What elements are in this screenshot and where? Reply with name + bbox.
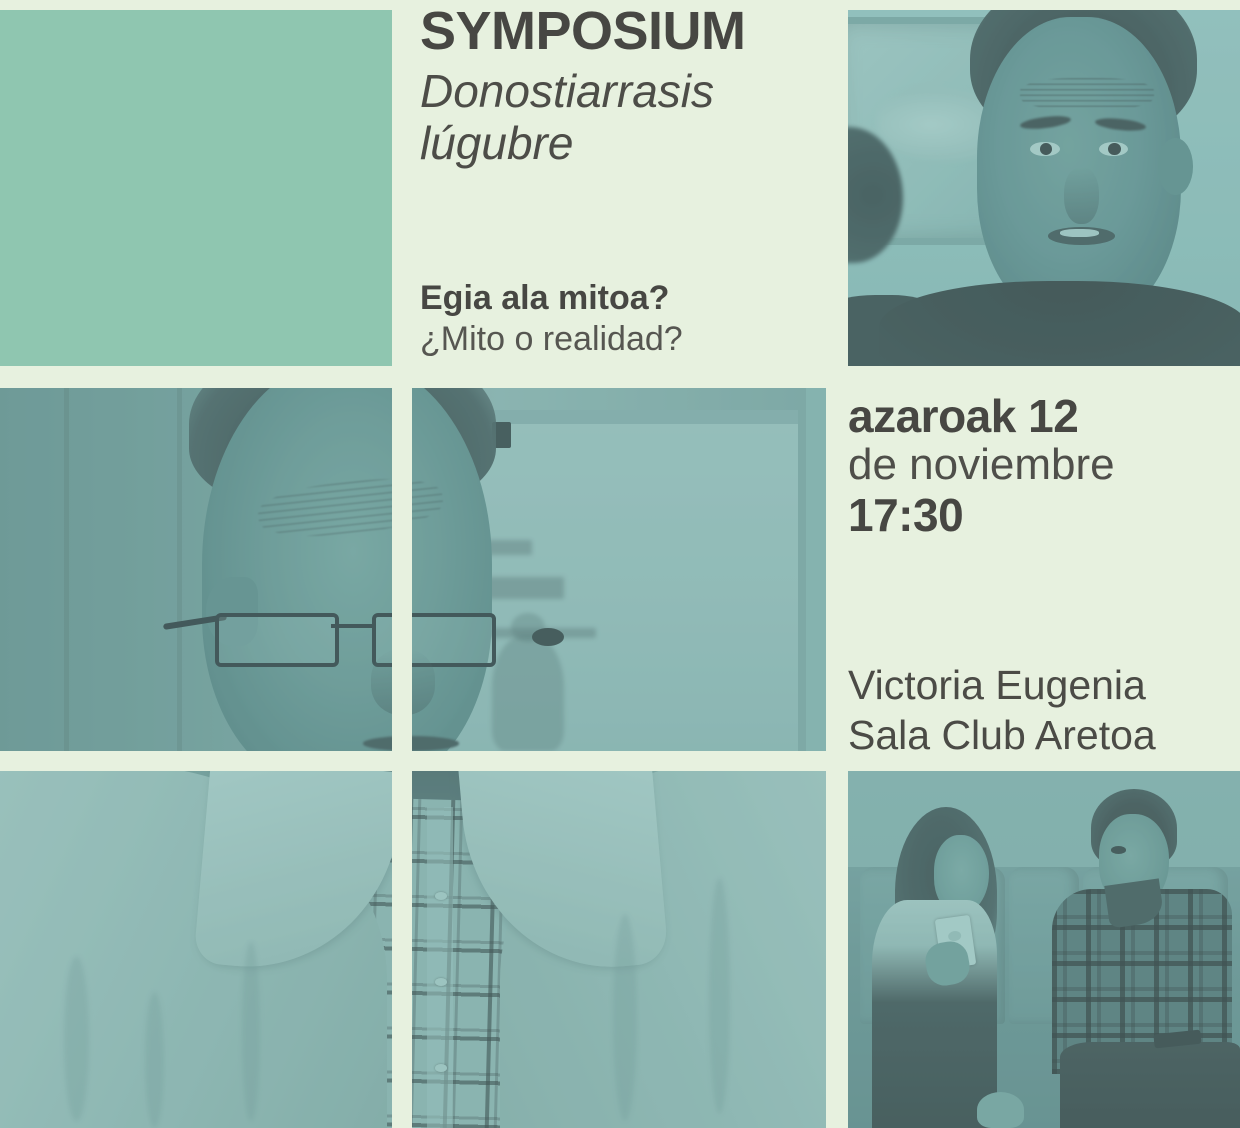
poster-title-block: SYMPOSIUM Donostiarrasis lúgubre	[420, 4, 840, 169]
tagline-basque: Egia ala mitoa?	[420, 278, 820, 319]
photo-lab-coat-right	[412, 771, 826, 1128]
venue-line2: Sala Club Aretoa	[848, 710, 1240, 760]
venue-line1: Victoria Eugenia	[848, 660, 1240, 710]
photo-man-surprised-face	[848, 10, 1240, 366]
page-title: SYMPOSIUM	[420, 4, 840, 58]
tagline-spanish: ¿Mito o realidad?	[420, 319, 820, 360]
event-time: 17:30	[848, 490, 1240, 542]
photo-doctor-glasses-left	[0, 388, 392, 751]
title-subtitle-line2: lúgubre	[420, 118, 840, 170]
accent-color-block	[0, 10, 392, 366]
tagline-block: Egia ala mitoa? ¿Mito o realidad?	[420, 278, 820, 361]
poster-canvas: SYMPOSIUM Donostiarrasis lúgubre Egia al…	[0, 0, 1240, 1128]
date-spanish: de noviembre	[848, 440, 1240, 489]
venue-block: Victoria Eugenia Sala Club Aretoa	[848, 660, 1240, 760]
date-block: azaroak 12 de noviembre 17:30	[848, 392, 1240, 541]
title-subtitle-line1: Donostiarrasis	[420, 66, 840, 118]
date-basque: azaroak 12	[848, 392, 1240, 440]
photo-doctor-glasses-right	[412, 388, 826, 751]
photo-lab-coat-left	[0, 771, 392, 1128]
photo-couple-on-sofa	[848, 771, 1240, 1128]
